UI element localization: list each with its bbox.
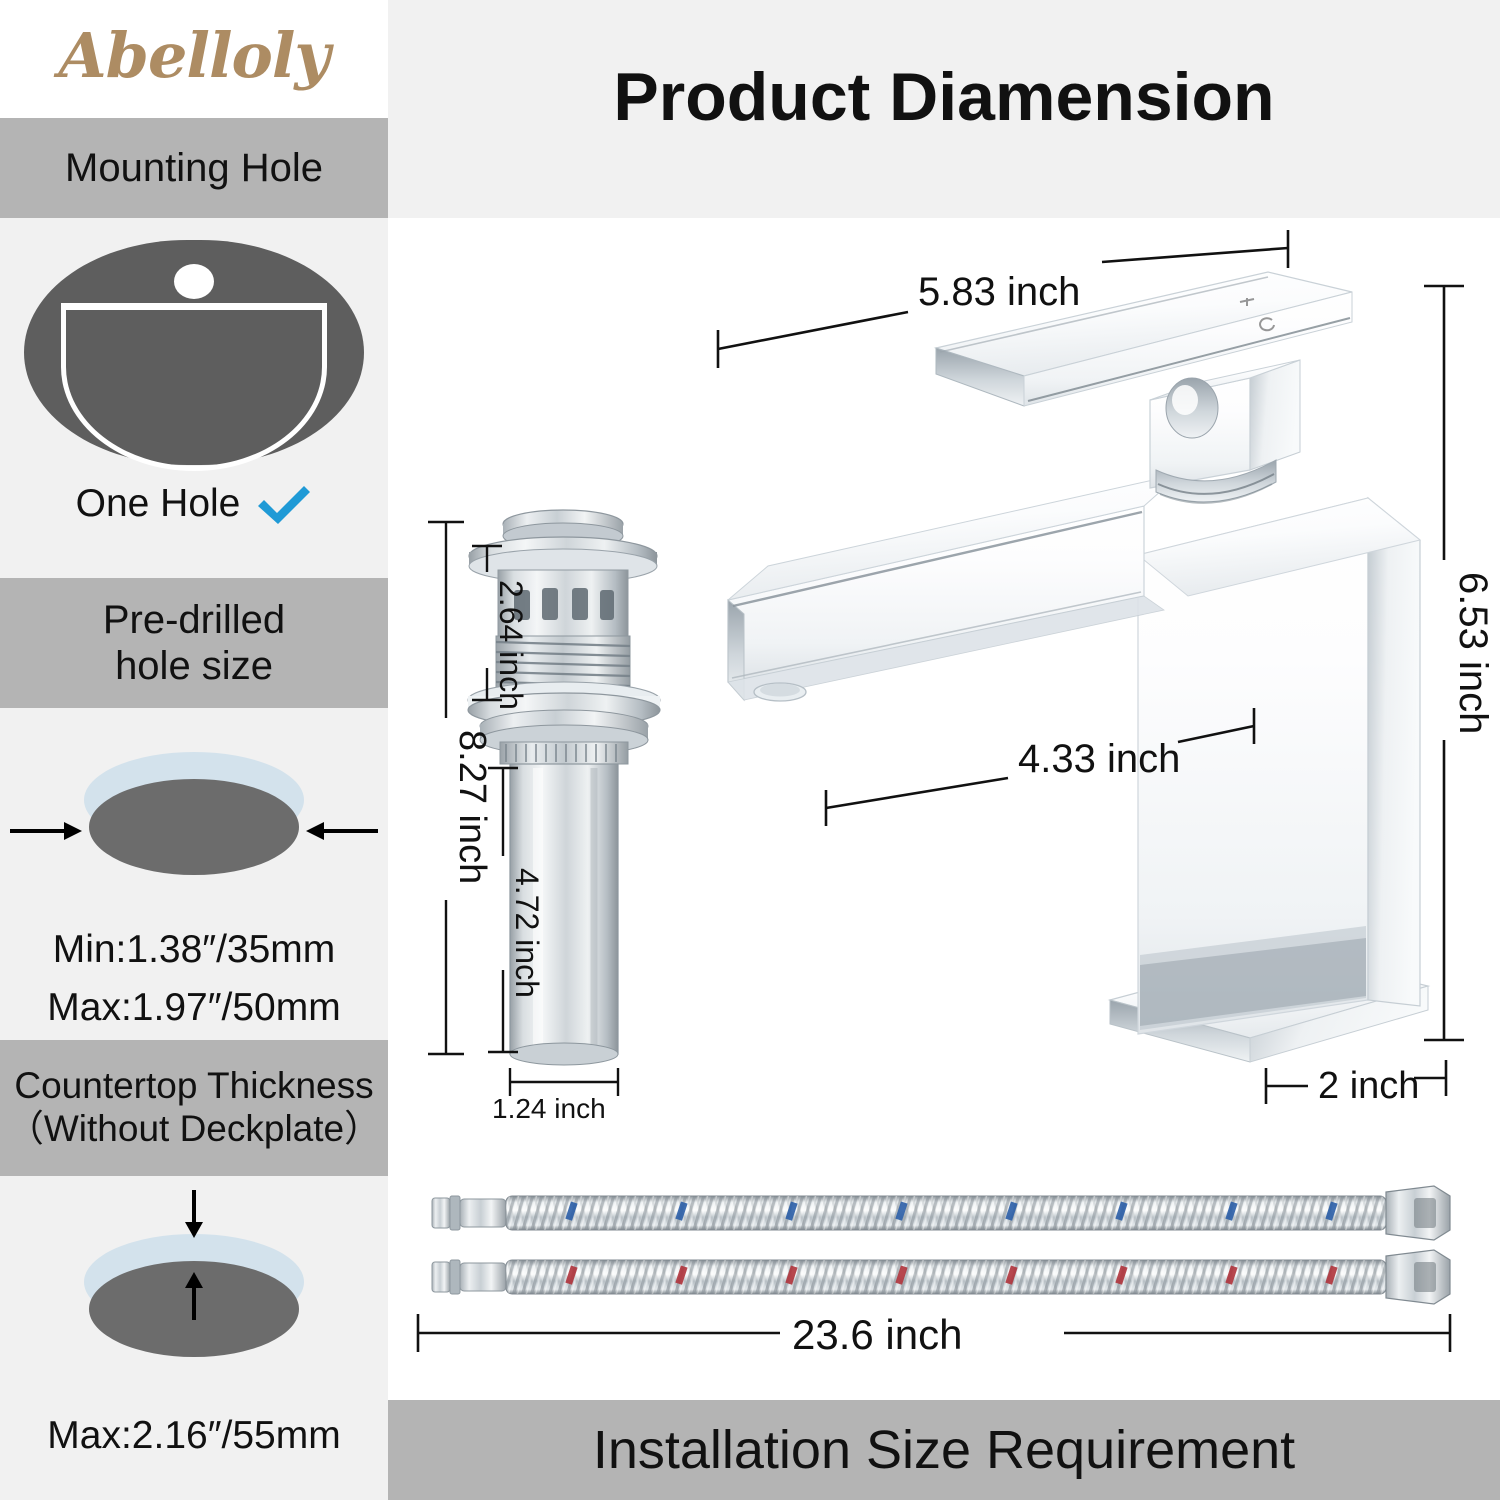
dim-spout-reach: 4.33 inch: [1018, 737, 1180, 781]
supply-hose-cold: [432, 1186, 1450, 1240]
arrow-left-icon: [306, 820, 378, 847]
left-spec-column: Abelloly Mounting Hole One Hole: [0, 0, 388, 1500]
dim-drain-tail: 4.72 inch: [509, 868, 545, 998]
hole-opening-shape: [89, 779, 299, 875]
mounting-hole-label: Mounting Hole: [65, 145, 323, 191]
hole-diameter-icon: [0, 752, 388, 902]
right-diagram-column: Product Diamension: [388, 0, 1500, 1500]
one-hole-label: One Hole: [76, 480, 241, 529]
countertop-thickness-icon: [0, 1234, 388, 1384]
footer-banner: Installation Size Requirement: [388, 1400, 1500, 1500]
diagram-canvas: 5.83 inch 4.33 inch 6.53 inch 2 inch: [388, 0, 1500, 1500]
product-dimension-infographic: Abelloly Mounting Hole One Hole: [0, 0, 1500, 1500]
predrilled-hole-panel: Min:1.38″/35mm Max:1.97″/50mm: [0, 708, 388, 1040]
faucet-illustration: [728, 272, 1428, 1062]
sink-faucet-hole-shape: [174, 264, 214, 299]
mounting-hole-panel: One Hole: [0, 218, 388, 578]
footer-title: Installation Size Requirement: [593, 1419, 1295, 1481]
blue-check-icon: [256, 482, 312, 526]
technical-drawing: 5.83 inch 4.33 inch 6.53 inch 2 inch: [388, 0, 1500, 1500]
brand-logo: Abelloly: [0, 0, 388, 118]
arrow-up-icon: [183, 1272, 205, 1325]
predrilled-label-line2: hole size: [115, 643, 273, 689]
section-header-mounting-hole: Mounting Hole: [0, 118, 388, 218]
countertop-label-line2: （Without Deckplate）: [7, 1108, 381, 1151]
supply-hoses-illustration: [432, 1186, 1450, 1304]
countertop-thickness-panel: Max:2.16″/55mm: [0, 1176, 388, 1500]
one-hole-caption-row: One Hole: [0, 480, 388, 529]
predrilled-min-label: Min:1.38″/35mm: [0, 926, 388, 975]
supply-hose-hot: [432, 1250, 1450, 1304]
faucet-valve-block: [1150, 360, 1300, 503]
faucet-spout: [728, 474, 1180, 701]
countertop-max-label: Max:2.16″/55mm: [0, 1412, 388, 1461]
section-header-predrilled-hole: Pre-drilled hole size: [0, 578, 388, 708]
section-header-countertop-thickness: Countertop Thickness （Without Deckplate）: [0, 1040, 388, 1176]
sink-one-hole-icon: [24, 240, 364, 465]
dim-drain-total: 8.27 inch: [451, 730, 493, 884]
dim-faucet-height: 6.53 inch: [1451, 572, 1495, 734]
predrilled-max-label: Max:1.97″/50mm: [0, 984, 388, 1033]
arrow-down-icon: [183, 1190, 205, 1243]
dim-base-depth: 2 inch: [1318, 1065, 1419, 1107]
predrilled-label-line1: Pre-drilled: [103, 597, 285, 643]
countertop-label-line1: Countertop Thickness: [14, 1065, 373, 1108]
arrow-right-icon: [10, 820, 82, 847]
dim-hose-length: 23.6 inch: [792, 1311, 962, 1358]
dim-drain-upper: 2.64 inch: [493, 580, 529, 710]
dim-drain-diameter: 1.24 inch: [492, 1093, 606, 1124]
drain-knurled-ring: [500, 742, 628, 764]
dim-spout-top: 5.83 inch: [918, 270, 1080, 314]
brand-name: Abelloly: [59, 25, 330, 87]
